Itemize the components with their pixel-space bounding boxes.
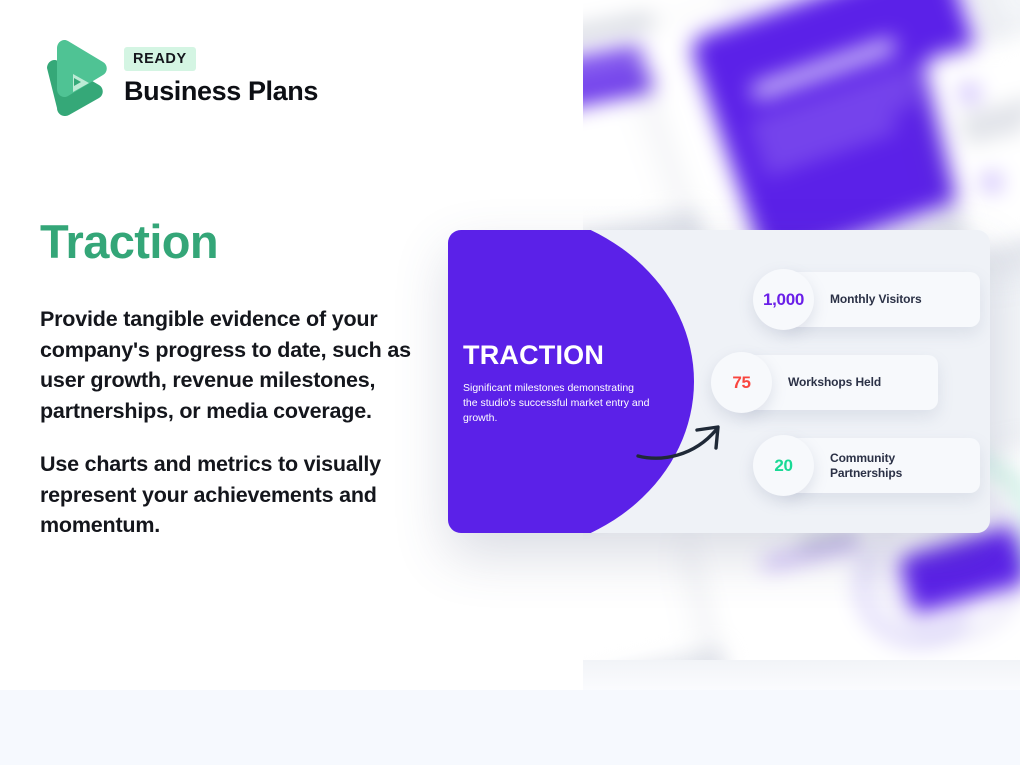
metric-label: Community Partnerships xyxy=(830,451,926,481)
metric-row-community-partnerships[interactable]: 20 Community Partnerships xyxy=(753,435,926,496)
slide-subtitle: Significant milestones demonstrating the… xyxy=(463,381,651,427)
brand-title: Business Plans xyxy=(124,77,318,107)
page-title: Traction xyxy=(40,218,218,265)
bg-dot xyxy=(982,173,1001,192)
bg-dot xyxy=(960,83,979,102)
metric-label: Workshops Held xyxy=(788,375,881,390)
ready-badge: READY xyxy=(124,47,196,71)
metric-value: 20 xyxy=(774,456,792,476)
metric-row-workshops-held[interactable]: 75 Workshops Held xyxy=(711,352,881,413)
brand-text: READY Business Plans xyxy=(124,47,318,107)
description-text: Provide tangible evidence of your compan… xyxy=(40,304,430,541)
metric-value-bubble: 20 xyxy=(753,435,814,496)
brand-lockup: READY Business Plans xyxy=(41,38,318,116)
metric-label: Monthly Visitors xyxy=(830,292,922,307)
background-bottom-fade xyxy=(583,660,1020,692)
bottom-accent-band xyxy=(0,690,1020,765)
curved-arrow-up-right-icon xyxy=(636,420,730,469)
metric-value-bubble: 1,000 xyxy=(753,269,814,330)
description-paragraph-1: Provide tangible evidence of your compan… xyxy=(40,304,430,426)
description-paragraph-2: Use charts and metrics to visually repre… xyxy=(40,449,430,541)
slide-title: TRACTION xyxy=(463,342,663,369)
metrics-list: 1,000 Monthly Visitors 75 Workshops Held… xyxy=(731,230,990,533)
slide-heading-group: TRACTION Significant milestones demonstr… xyxy=(463,342,663,427)
metric-row-monthly-visitors[interactable]: 1,000 Monthly Visitors xyxy=(753,269,922,330)
slide-preview-page: READY Business Plans Traction Provide ta… xyxy=(0,0,1020,765)
play-triangle-logo-icon xyxy=(41,38,107,116)
traction-slide-card[interactable]: TRACTION Significant milestones demonstr… xyxy=(448,230,990,533)
metric-value-bubble: 75 xyxy=(711,352,772,413)
metric-value: 1,000 xyxy=(763,290,804,310)
metric-value: 75 xyxy=(732,373,750,393)
